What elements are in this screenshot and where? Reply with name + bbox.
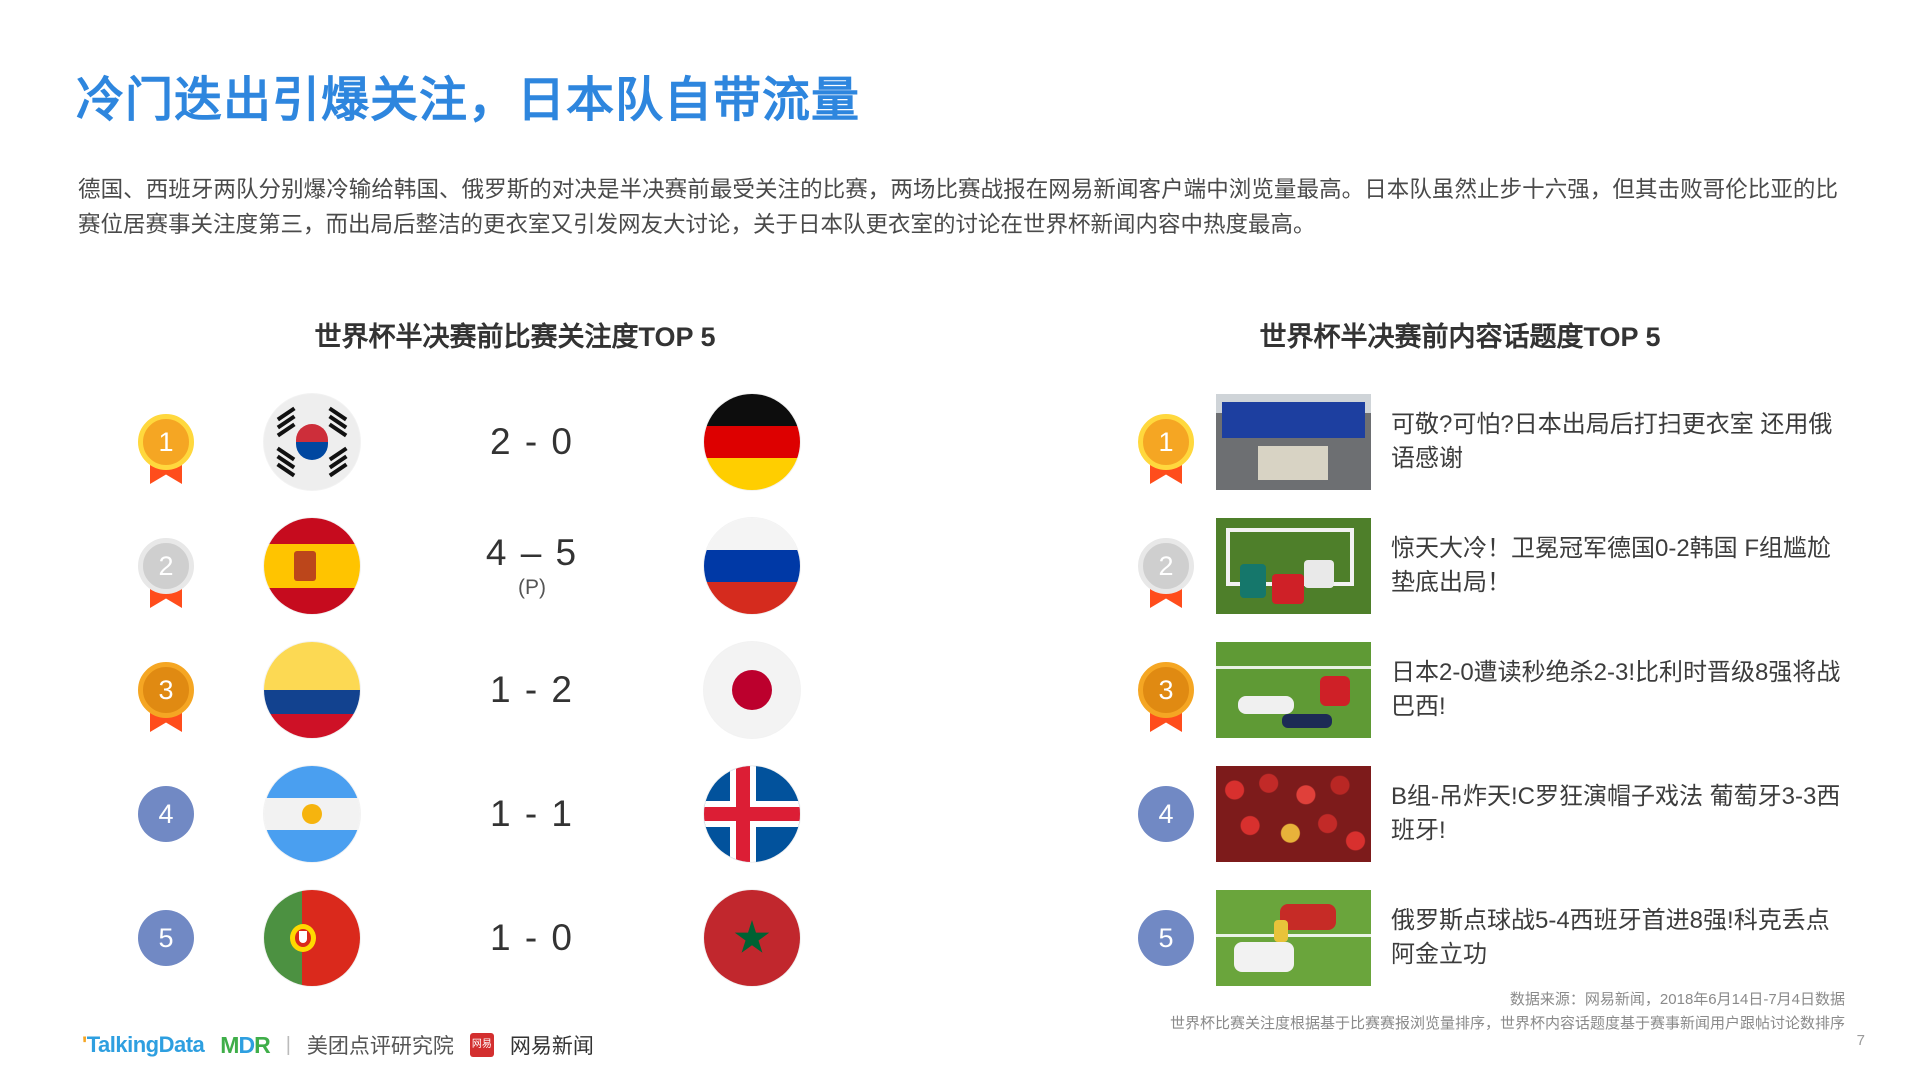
score-note: (P) [412, 576, 652, 599]
match-score: 1 - 0 [412, 918, 652, 959]
bronze-medal-icon: 3 [1138, 662, 1194, 718]
rank-cell: 2 [1120, 538, 1212, 594]
news-headline[interactable]: B组-吊炸天!C罗狂演帽子戏法 葡萄牙3-3西班牙! [1391, 780, 1860, 848]
goal-save-thumbnail [1216, 518, 1371, 614]
home-team-cell [212, 394, 412, 490]
away-team-cell [652, 394, 852, 490]
away-team-cell [652, 642, 852, 738]
footnote-source: 数据来源：网易新闻，2018年6月14日-7月4日数据 [1170, 988, 1845, 1012]
intro-paragraph: 德国、西班牙两队分别爆冷输给韩国、俄罗斯的对决是半决赛前最受关注的比赛，两场比赛… [78, 172, 1838, 242]
plain-circle-icon: 5 [1138, 910, 1194, 966]
home-team-cell [212, 766, 412, 862]
plain-circle-icon: 4 [138, 786, 194, 842]
silver-medal-icon: 2 [1138, 538, 1194, 594]
players-on-pitch-thumbnail [1216, 642, 1371, 738]
list-item: 1 可敬?可怕?日本出局后打扫更衣室 还用俄语感谢 [1120, 380, 1860, 504]
away-team-cell [652, 518, 852, 614]
list-item: 2 惊天大冷！卫冕冠军德国0-2韩国 F组尴尬垫底出局！ [1120, 504, 1860, 628]
rank-cell: 4 [120, 786, 212, 842]
news-headline[interactable]: 俄罗斯点球战5-4西班牙首进8强!科克丢点阿金立功 [1391, 904, 1860, 972]
plain-circle-icon: 5 [138, 910, 194, 966]
rank-cell: 5 [1120, 910, 1212, 966]
spain-flag-icon [264, 518, 360, 614]
gold-medal-icon: 1 [138, 414, 194, 470]
list-item: 3 日本2-0遭读秒绝杀2-3!比利时晋级8强将战巴西! [1120, 628, 1860, 752]
rank-cell: 3 [120, 662, 212, 718]
match-score: 4 – 5 (P) [412, 533, 652, 599]
away-team-cell [652, 766, 852, 862]
rank-cell: 4 [1120, 786, 1212, 842]
bronze-medal-icon: 3 [138, 662, 194, 718]
rank-number: 2 [138, 538, 194, 594]
logo-bar: 'TalkingData MDR | 美团点评研究院 网易 网易新闻 [82, 1030, 594, 1060]
rank-cell: 2 [120, 538, 212, 594]
logo-divider: | [286, 1034, 291, 1057]
argentina-flag-icon [264, 766, 360, 862]
right-section-heading: 世界杯半决赛前内容话题度TOP 5 [1020, 315, 1900, 354]
rank-cell: 1 [1120, 414, 1212, 470]
left-section-heading: 世界杯半决赛前比赛关注度TOP 5 [0, 315, 1030, 354]
news-headline[interactable]: 惊天大冷！卫冕冠军德国0-2韩国 F组尴尬垫底出局！ [1391, 532, 1860, 600]
content-topic-list: 1 可敬?可怕?日本出局后打扫更衣室 还用俄语感谢 2 惊天大冷！卫冕冠军德国0… [1120, 380, 1860, 1000]
page-number: 7 [1857, 1032, 1865, 1049]
table-row: 5 1 - 0 [120, 876, 1000, 1000]
silver-medal-icon: 2 [138, 538, 194, 594]
iceland-flag-icon [704, 766, 800, 862]
plain-circle-icon: 4 [1138, 786, 1194, 842]
match-score: 2 - 0 [412, 422, 652, 463]
germany-flag-icon [704, 394, 800, 490]
rank-cell: 1 [120, 414, 212, 470]
match-score: 1 - 2 [412, 670, 652, 711]
news-headline[interactable]: 日本2-0遭读秒绝杀2-3!比利时晋级8强将战巴西! [1391, 656, 1860, 724]
locker-room-thumbnail [1216, 394, 1371, 490]
netease-news-logo: 网易新闻 [510, 1030, 594, 1060]
japan-flag-icon [704, 642, 800, 738]
match-attention-list: 1 [120, 380, 1000, 1000]
away-team-cell [652, 890, 852, 986]
table-row: 1 [120, 380, 1000, 504]
portugal-flag-icon [264, 890, 360, 986]
netease-badge-icon: 网易 [470, 1033, 494, 1057]
rank-number: 1 [138, 414, 194, 470]
table-row: 2 4 – 5 (P) [120, 504, 1000, 628]
russia-flag-icon [704, 518, 800, 614]
rank-number: 2 [1138, 538, 1194, 594]
home-team-cell [212, 518, 412, 614]
rank-number: 3 [1138, 662, 1194, 718]
score-value: 1 - 2 [490, 669, 574, 710]
table-row: 3 1 - 2 [120, 628, 1000, 752]
table-row: 4 1 - 1 [120, 752, 1000, 876]
footnote: 数据来源：网易新闻，2018年6月14日-7月4日数据 世界杯比赛关注度根据基于… [1170, 988, 1845, 1036]
match-score: 1 - 1 [412, 794, 652, 835]
footnote-method: 世界杯比赛关注度根据基于比赛赛报浏览量排序，世界杯内容话题度基于赛事新闻用户跟帖… [1170, 1012, 1845, 1036]
score-value: 2 - 0 [490, 421, 574, 462]
red-crowd-thumbnail [1216, 766, 1371, 862]
home-team-cell [212, 642, 412, 738]
colombia-flag-icon [264, 642, 360, 738]
celebration-thumbnail [1216, 890, 1371, 986]
korea-flag-icon [264, 394, 360, 490]
gold-medal-icon: 1 [1138, 414, 1194, 470]
page-title: 冷门迭出引爆关注，日本队自带流量 [76, 60, 860, 130]
talkingdata-logo: 'TalkingData [82, 1032, 204, 1058]
mdr-logo: MDR [220, 1032, 269, 1059]
rank-cell: 5 [120, 910, 212, 966]
rank-cell: 3 [1120, 662, 1212, 718]
morocco-flag-icon [704, 890, 800, 986]
list-item: 5 俄罗斯点球战5-4西班牙首进8强!科克丢点阿金立功 [1120, 876, 1860, 1000]
news-headline[interactable]: 可敬?可怕?日本出局后打扫更衣室 还用俄语感谢 [1391, 408, 1860, 476]
list-item: 4 B组-吊炸天!C罗狂演帽子戏法 葡萄牙3-3西班牙! [1120, 752, 1860, 876]
rank-number: 1 [1138, 414, 1194, 470]
score-value: 4 – 5 [486, 532, 578, 573]
home-team-cell [212, 890, 412, 986]
rank-number: 3 [138, 662, 194, 718]
score-value: 1 - 1 [490, 793, 574, 834]
meituan-research-logo: 美团点评研究院 [307, 1030, 454, 1060]
score-value: 1 - 0 [490, 917, 574, 958]
slide-root: 冷门迭出引爆关注，日本队自带流量 德国、西班牙两队分别爆冷输给韩国、俄罗斯的对决… [0, 0, 1921, 1080]
